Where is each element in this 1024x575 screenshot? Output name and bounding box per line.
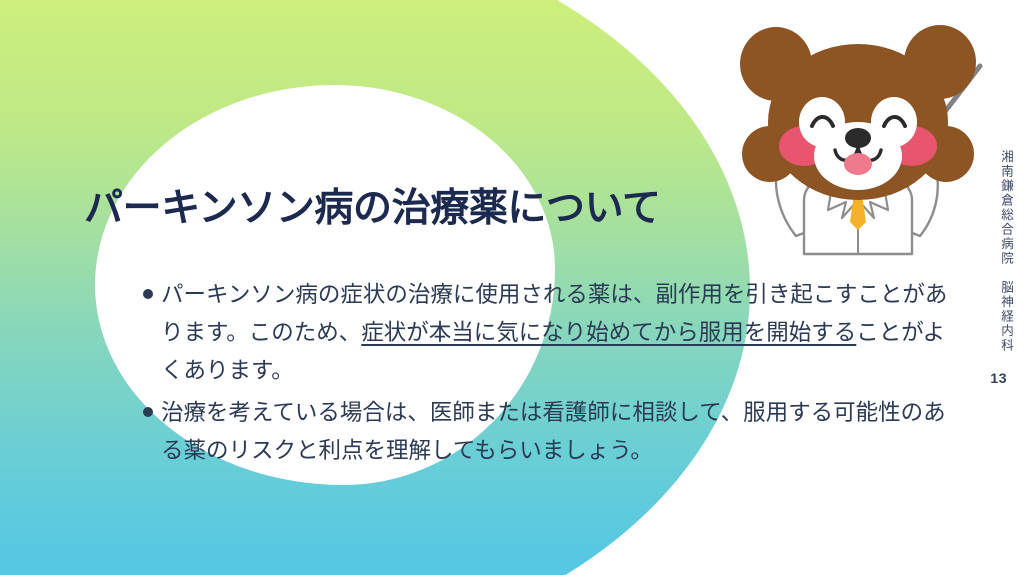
- tongue: [844, 153, 872, 175]
- bullet-list: パーキンソン病の症状の治療に使用される薬は、副作用を引き起こすことがあります。こ…: [143, 276, 958, 474]
- page-number: 13: [990, 370, 1007, 386]
- list-item: 治療を考えている場合は、医師または看護師に相談して、服用する可能性のある薬のリス…: [143, 394, 958, 470]
- bullet-2-segment-1: 治療を考えている場合は、医師または看護師に相談して、服用する可能性のある薬のリス…: [161, 400, 946, 464]
- bullet-dot-icon: [143, 289, 153, 299]
- hospital-department-label: 湘南鎌倉総合病院 脳神経内科: [997, 150, 1016, 353]
- bullet-dot-icon: [143, 407, 153, 417]
- bear-doctor-mascot: [718, 4, 998, 274]
- bullet-text-2: 治療を考えている場合は、医師または看護師に相談して、服用する可能性のある薬のリス…: [161, 394, 958, 470]
- nose: [845, 128, 871, 148]
- bullet-text-1: パーキンソン病の症状の治療に使用される薬は、副作用を引き起こすことがあります。こ…: [161, 276, 958, 390]
- list-item: パーキンソン病の症状の治療に使用される薬は、副作用を引き起こすことがあります。こ…: [143, 276, 958, 390]
- bullet-1-segment-2-underlined: 症状が本当に気になり始めてから服用を開始する: [361, 320, 856, 346]
- slide-canvas: パーキンソン病の治療薬について パーキンソン病の症状の治療に使用される薬は、副作…: [0, 0, 1024, 575]
- page-title: パーキンソン病の治療薬について: [84, 186, 661, 233]
